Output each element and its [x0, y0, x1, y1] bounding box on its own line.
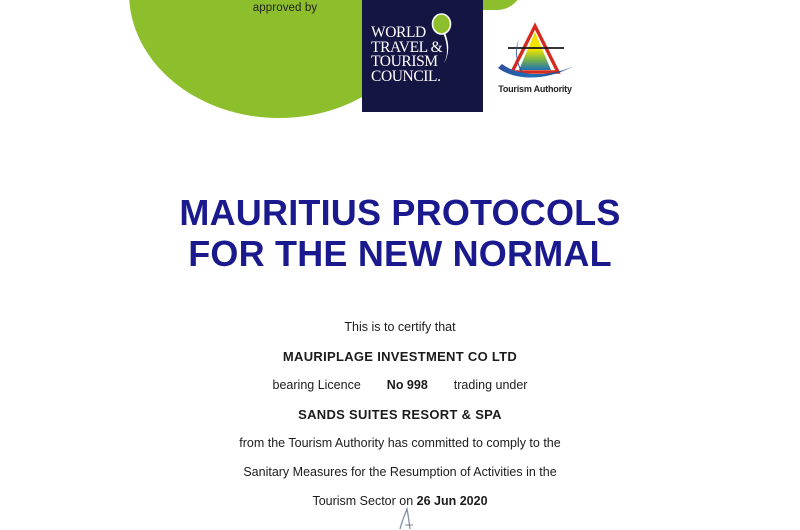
licence-prefix: bearing Licence: [273, 378, 361, 392]
title-line-2: FOR THE NEW NORMAL: [0, 233, 800, 274]
commitment-line-1: from the Tourism Authority has committed…: [0, 429, 800, 458]
wttc-wordmark-line-4: COUNCIL.: [371, 70, 461, 85]
tourism-authority-caption: Tourism Authority: [488, 84, 582, 94]
wttc-logo: WORLD TRAVEL & TOURISM COUNCIL.: [362, 0, 483, 112]
trading-under-label: trading under: [454, 378, 528, 392]
tourism-authority-logo: Tourism Authority: [488, 18, 582, 110]
certify-line: This is to certify that: [0, 313, 800, 342]
company-name: MAURIPLAGE INVESTMENT CO LTD: [0, 342, 800, 371]
page-title: MAURITIUS PROTOCOLS FOR THE NEW NORMAL: [0, 192, 800, 274]
certificate-header: approved by WORLD TRAVEL & TOURISM COUNC…: [0, 0, 800, 130]
wttc-wordmark: WORLD TRAVEL & TOURISM COUNCIL.: [371, 26, 461, 84]
commitment-line-2: Sanitary Measures for the Resumption of …: [0, 458, 800, 487]
certificate-page: approved by WORLD TRAVEL & TOURISM COUNC…: [0, 0, 800, 530]
title-line-1: MAURITIUS PROTOCOLS: [0, 192, 800, 233]
approved-by-label: approved by: [233, 2, 337, 14]
signature-mark: [372, 505, 442, 530]
tourism-authority-mark-icon: [488, 18, 582, 90]
licence-line: bearing Licence No 998 trading under: [0, 371, 800, 400]
licence-number: No 998: [387, 378, 428, 392]
trade-name: SANDS SUITES RESORT & SPA: [0, 400, 800, 429]
certificate-body: This is to certify that MAURIPLAGE INVES…: [0, 313, 800, 516]
